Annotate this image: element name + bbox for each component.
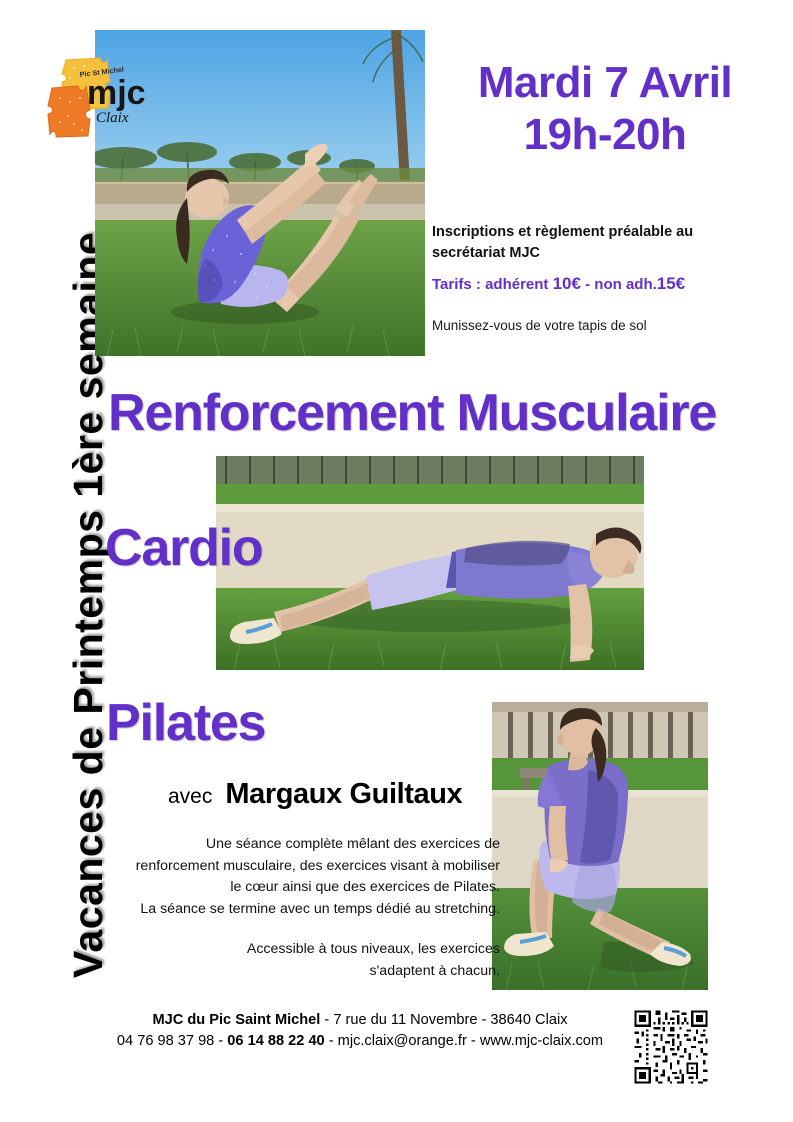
description-line-2: renforcement musculaire, des exercices v… xyxy=(136,858,500,874)
registration-info-block: Inscriptions et règlement préalable au s… xyxy=(432,222,772,333)
tarifs-member-price: 10€ xyxy=(553,274,581,293)
description-line-5: Accessible à tous niveaux, les exercices xyxy=(247,941,500,957)
course-description: Une séance complète mêlant des exercices… xyxy=(100,834,500,982)
equipment-note: Munissez-vous de votre tapis de sol xyxy=(432,318,772,333)
footer-contact: MJC du Pic Saint Michel - 7 rue du 11 No… xyxy=(96,1010,624,1052)
footer-line-1: MJC du Pic Saint Michel - 7 rue du 11 No… xyxy=(96,1010,624,1031)
footer-sep-3: - xyxy=(467,1033,480,1049)
date-block: Mardi 7 Avril 19h-20h xyxy=(440,57,770,161)
poster-root: Vacances de Printemps 1ère semaine Pic S… xyxy=(0,0,793,1122)
qr-code-mjc-claix[interactable] xyxy=(632,1008,710,1086)
footer-phone-mobile: 06 14 88 22 40 xyxy=(227,1033,324,1049)
heading-renforcement-musculaire: Renforcement Musculaire xyxy=(108,383,716,443)
description-gap xyxy=(100,920,500,939)
footer-website[interactable]: www.mjc-claix.com xyxy=(480,1033,603,1049)
description-line-4: La séance se termine avec un temps dédié… xyxy=(140,901,500,917)
footer-line-2: 04 76 98 37 98 - 06 14 88 22 40 - mjc.cl… xyxy=(96,1031,624,1052)
mjc-logo: Pic St Michel mjc Claix xyxy=(44,52,152,142)
photo-lunge-pose xyxy=(492,702,708,990)
description-line-3: le cœur ainsi que des exercices de Pilat… xyxy=(230,879,500,895)
tarifs-prefix: Tarifs : adhérent xyxy=(432,276,553,293)
footer-phone-landline: 04 76 98 37 98 xyxy=(117,1033,214,1049)
logo-wordmark: mjc xyxy=(87,74,146,112)
registration-line-2: secrétariat MJC xyxy=(432,245,540,261)
instructor-line: avecMargaux Guiltaux xyxy=(168,778,462,811)
description-line-6: s'adaptent à chacun. xyxy=(370,963,501,979)
logo-sub-wordmark: Claix xyxy=(96,110,129,126)
footer-sep-1: - xyxy=(214,1033,227,1049)
instructor-name: Margaux Guiltaux xyxy=(225,778,462,810)
photo-plank-pose xyxy=(216,456,644,670)
date-line-2: 19h-20h xyxy=(440,109,770,161)
registration-text: Inscriptions et règlement préalable au s… xyxy=(432,222,772,263)
footer-address: - 7 rue du 11 Novembre - 38640 Claix xyxy=(320,1012,567,1028)
tarifs-line: Tarifs : adhérent 10€ - non adh.15€ xyxy=(432,272,772,296)
description-line-1: Une séance complète mêlant des exercices… xyxy=(206,836,500,852)
footer-email[interactable]: mjc.claix@orange.fr xyxy=(338,1033,467,1049)
instructor-prefix: avec xyxy=(168,785,212,808)
tarifs-middle: - non adh. xyxy=(581,276,657,293)
puzzle-piece-orange xyxy=(48,86,90,137)
registration-line-1: Inscriptions et règlement préalable au xyxy=(432,224,693,240)
heading-cardio: Cardio xyxy=(105,518,262,578)
heading-pilates: Pilates xyxy=(106,693,265,753)
tarifs-nonmember-price: 15€ xyxy=(657,274,685,293)
footer-venue: MJC du Pic Saint Michel xyxy=(153,1012,321,1028)
date-line-1: Mardi 7 Avril xyxy=(440,57,770,109)
footer-sep-2: - xyxy=(325,1033,338,1049)
